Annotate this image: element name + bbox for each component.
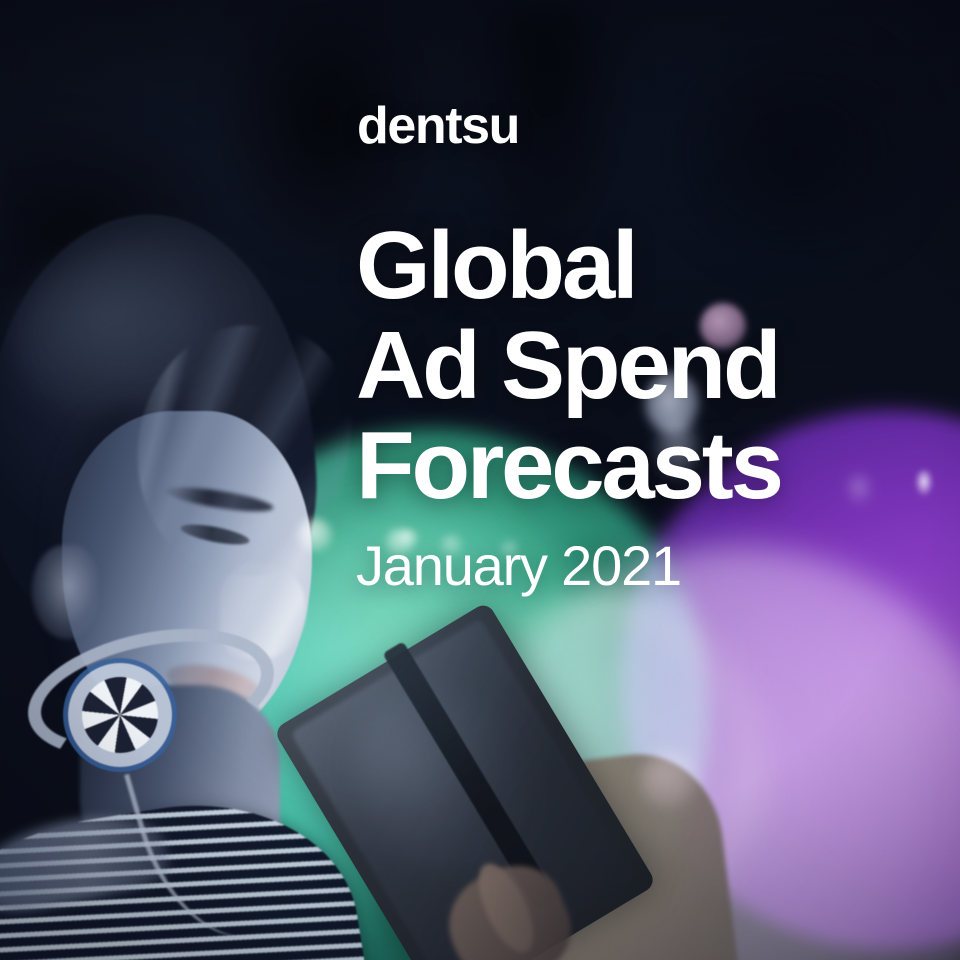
poster-cover: dentsu Global Ad Spend Forecasts January… xyxy=(0,0,960,960)
dentsu-logo: dentsu xyxy=(357,100,519,152)
publication-date: January 2021 xyxy=(356,538,681,594)
title-line-2: Ad Spend xyxy=(356,316,956,416)
title-line-3: Forecasts xyxy=(356,416,956,516)
page-title: Global Ad Spend Forecasts xyxy=(356,216,956,515)
cover-text-content: dentsu Global Ad Spend Forecasts January… xyxy=(0,0,960,960)
title-line-1: Global xyxy=(356,216,956,316)
